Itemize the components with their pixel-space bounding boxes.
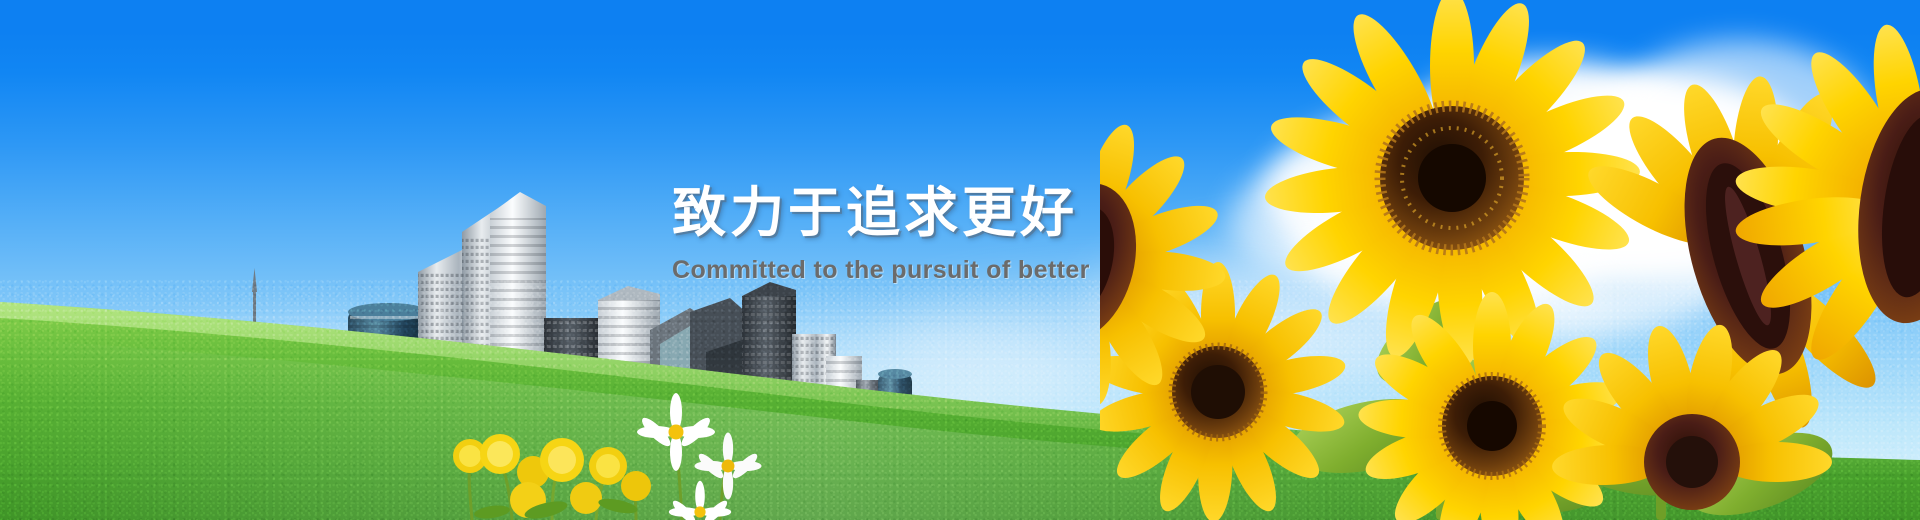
leaf-accents xyxy=(473,496,638,520)
daisy-cluster xyxy=(637,393,762,520)
page-subtitle: Committed to the pursuit of better xyxy=(672,256,1372,285)
hero-banner: 致力于追求更好 Committed to the pursuit of bett… xyxy=(0,0,1920,520)
banner-copy: 致力于追求更好 Committed to the pursuit of bett… xyxy=(672,186,1372,285)
daisy xyxy=(694,432,761,499)
page-title: 致力于追求更好 xyxy=(672,186,1372,240)
